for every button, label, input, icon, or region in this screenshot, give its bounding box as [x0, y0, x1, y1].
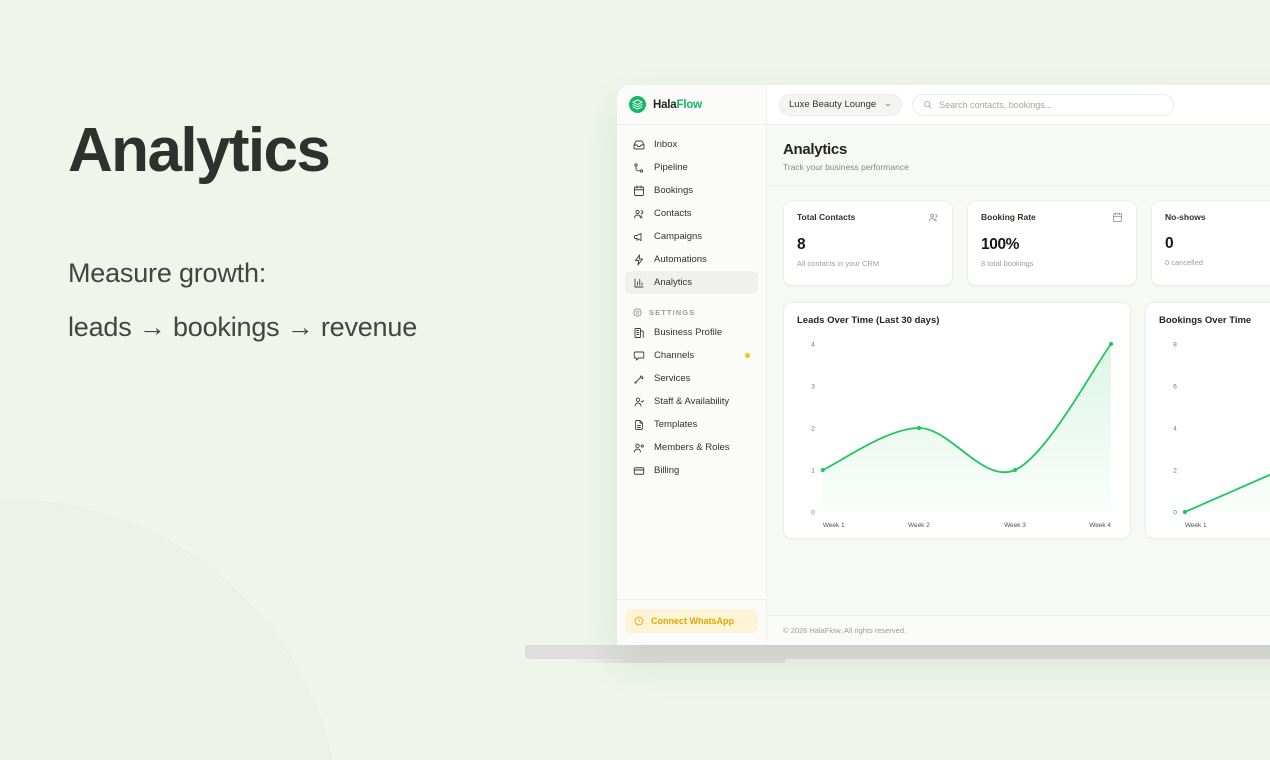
- sidebar-item-campaigns[interactable]: Campaigns: [625, 225, 758, 248]
- stat-label: Total Contacts: [797, 212, 855, 222]
- connect-whatsapp-button[interactable]: Connect WhatsApp: [625, 609, 758, 633]
- calendar-icon: [1112, 212, 1123, 223]
- brand-name-accent: Flow: [677, 99, 702, 111]
- page-header: Analytics Track your business performanc…: [767, 125, 1270, 186]
- sidebar-item-label: Campaigns: [654, 231, 702, 242]
- sidebar-item-label: Analytics: [654, 277, 692, 288]
- stat-value: 8: [797, 236, 939, 254]
- sidebar-item-label: Bookings: [654, 185, 693, 196]
- svg-text:Week 3: Week 3: [1004, 522, 1026, 529]
- sidebar-item-label: Billing: [654, 465, 679, 476]
- chart-card-bookings-over-time: Bookings Over Time 02468Week 1Week 2Week…: [1145, 302, 1270, 539]
- stat-label: Booking Rate: [981, 212, 1036, 222]
- chat-icon: [633, 350, 645, 362]
- building-icon: [633, 327, 645, 339]
- svg-text:0: 0: [1173, 509, 1177, 516]
- page-title: Analytics: [783, 141, 1270, 158]
- search-icon: [923, 100, 932, 109]
- megaphone-icon: [633, 231, 645, 243]
- brand-name: HalaFlow: [653, 99, 702, 111]
- svg-text:Week 1: Week 1: [1185, 522, 1207, 529]
- page-root: Analytics Measure growth: leads → bookin…: [0, 0, 1270, 760]
- svg-text:Week 1: Week 1: [823, 522, 845, 529]
- document-icon: [633, 419, 645, 431]
- window-body: HalaFlow Inbox: [617, 85, 1270, 645]
- chart-title: Bookings Over Time: [1159, 315, 1270, 326]
- sidebar-item-staff-availability[interactable]: Staff & Availability: [625, 390, 758, 413]
- hero-subtitle: Measure growth: leads → bookings → reven…: [68, 247, 598, 354]
- stat-label: No-shows: [1165, 212, 1206, 222]
- dashboard-scroll-area: Total Contacts: [767, 186, 1270, 615]
- copyright-text: © 2026 HalaFlow. All rights reserved.: [783, 626, 906, 635]
- top-bar: Luxe Beauty Lounge: [767, 85, 1270, 125]
- stat-card-header: No-shows: [1165, 212, 1270, 222]
- stat-note: 8 total bookings: [981, 259, 1123, 268]
- search-input[interactable]: [939, 100, 1163, 110]
- sidebar-item-contacts[interactable]: Contacts: [625, 202, 758, 225]
- org-switcher-label: Luxe Beauty Lounge: [789, 99, 876, 110]
- card-icon: [633, 465, 645, 477]
- sidebar-item-automations[interactable]: Automations: [625, 248, 758, 271]
- sidebar-item-label: Pipeline: [654, 162, 688, 173]
- status-badge: [745, 353, 750, 358]
- org-switcher[interactable]: Luxe Beauty Lounge: [779, 94, 902, 116]
- sidebar-footer: Connect WhatsApp: [617, 599, 766, 645]
- stat-cards-row: Total Contacts: [783, 200, 1270, 286]
- sidebar-item-inbox[interactable]: Inbox: [625, 133, 758, 156]
- stat-value: 100%: [981, 236, 1123, 254]
- stat-value: 0: [1165, 235, 1270, 253]
- svg-text:3: 3: [811, 383, 815, 390]
- gear-icon: [633, 308, 642, 317]
- sidebar-item-pipeline[interactable]: Pipeline: [625, 156, 758, 179]
- svg-text:4: 4: [1173, 425, 1177, 432]
- svg-text:0: 0: [811, 509, 815, 516]
- stat-note: 0 cancelled: [1165, 258, 1270, 267]
- sidebar-item-services[interactable]: Services: [625, 367, 758, 390]
- svg-text:1: 1: [811, 467, 815, 474]
- primary-nav: Inbox Pipeline: [617, 125, 766, 599]
- device-base: [525, 645, 1270, 659]
- svg-text:2: 2: [811, 425, 815, 432]
- bar-chart-icon: [633, 277, 645, 289]
- app-window: HalaFlow Inbox: [617, 85, 1270, 645]
- sidebar-item-business-profile[interactable]: Business Profile: [625, 321, 758, 344]
- svg-text:8: 8: [1173, 341, 1177, 348]
- decorative-circle: [0, 500, 340, 760]
- stat-card-header: Booking Rate: [981, 212, 1123, 223]
- stat-card-header: Total Contacts: [797, 212, 939, 223]
- pipeline-icon: [633, 162, 645, 174]
- chart-title: Leads Over Time (Last 30 days): [797, 315, 1117, 326]
- hero-title: Analytics: [68, 118, 598, 183]
- settings-section-header: SETTINGS: [625, 308, 758, 317]
- brand-name-dark: Hala: [653, 99, 677, 111]
- sidebar-item-label: Templates: [654, 419, 697, 430]
- brand-logo[interactable]: HalaFlow: [617, 85, 766, 125]
- inbox-icon: [633, 139, 645, 151]
- wrench-icon: [633, 373, 645, 385]
- sidebar: HalaFlow Inbox: [617, 85, 767, 645]
- stat-card-total-contacts: Total Contacts: [783, 200, 953, 286]
- lightning-icon: [633, 254, 645, 266]
- stat-card-booking-rate: Booking Rate 10: [967, 200, 1137, 286]
- sidebar-item-label: Contacts: [654, 208, 692, 219]
- chart-cards-row: Leads Over Time (Last 30 days) 01234Week…: [783, 302, 1270, 539]
- sidebar-item-label: Business Profile: [654, 327, 722, 338]
- svg-text:4: 4: [811, 341, 815, 348]
- sidebar-item-label: Channels: [654, 350, 694, 361]
- layers-icon: [629, 96, 646, 113]
- stat-note: All contacts in your CRM: [797, 259, 939, 268]
- sidebar-item-channels[interactable]: Channels: [625, 344, 758, 367]
- hero-subtitle-line-2: leads → bookings → revenue: [68, 301, 598, 354]
- sidebar-item-templates[interactable]: Templates: [625, 413, 758, 436]
- sidebar-item-label: Automations: [654, 254, 707, 265]
- svg-text:Week 4: Week 4: [1089, 522, 1111, 529]
- app-footer: © 2026 HalaFlow. All rights reserved.: [767, 615, 1270, 645]
- leads-chart-plot: 01234Week 1Week 2Week 3Week 4: [797, 336, 1117, 534]
- chart-card-leads-over-time: Leads Over Time (Last 30 days) 01234Week…: [783, 302, 1131, 539]
- sidebar-item-label: Inbox: [654, 139, 677, 150]
- hero-subtitle-line-1: Measure growth:: [68, 247, 598, 300]
- connect-whatsapp-label: Connect WhatsApp: [651, 616, 734, 626]
- sidebar-item-analytics[interactable]: Analytics: [625, 271, 758, 294]
- calendar-icon: [633, 185, 645, 197]
- hero-block: Analytics Measure growth: leads → bookin…: [68, 118, 598, 354]
- main-content: Luxe Beauty Lounge Analytics: [767, 85, 1270, 645]
- svg-text:Week 2: Week 2: [908, 522, 930, 529]
- sidebar-item-label: Services: [654, 373, 690, 384]
- sidebar-item-label: Staff & Availability: [654, 396, 729, 407]
- search-box[interactable]: [912, 94, 1174, 116]
- stat-card-no-shows: No-shows 0 0 cancelled: [1151, 200, 1270, 286]
- sidebar-item-bookings[interactable]: Bookings: [625, 179, 758, 202]
- chevron-down-icon: [884, 101, 892, 109]
- users-icon: [928, 212, 939, 223]
- user-gear-icon: [633, 442, 645, 454]
- alert-circle-icon: [634, 616, 644, 626]
- users-icon: [633, 208, 645, 220]
- bookings-chart-plot: 02468Week 1Week 2Week 3Week 4: [1159, 336, 1270, 534]
- sidebar-item-label: Members & Roles: [654, 442, 730, 453]
- sidebar-item-billing[interactable]: Billing: [625, 459, 758, 482]
- sidebar-item-members-roles[interactable]: Members & Roles: [625, 436, 758, 459]
- person-check-icon: [633, 396, 645, 408]
- svg-text:6: 6: [1173, 383, 1177, 390]
- svg-text:2: 2: [1173, 467, 1177, 474]
- page-subtitle: Track your business performance: [783, 162, 1270, 172]
- settings-section-label: SETTINGS: [649, 308, 695, 317]
